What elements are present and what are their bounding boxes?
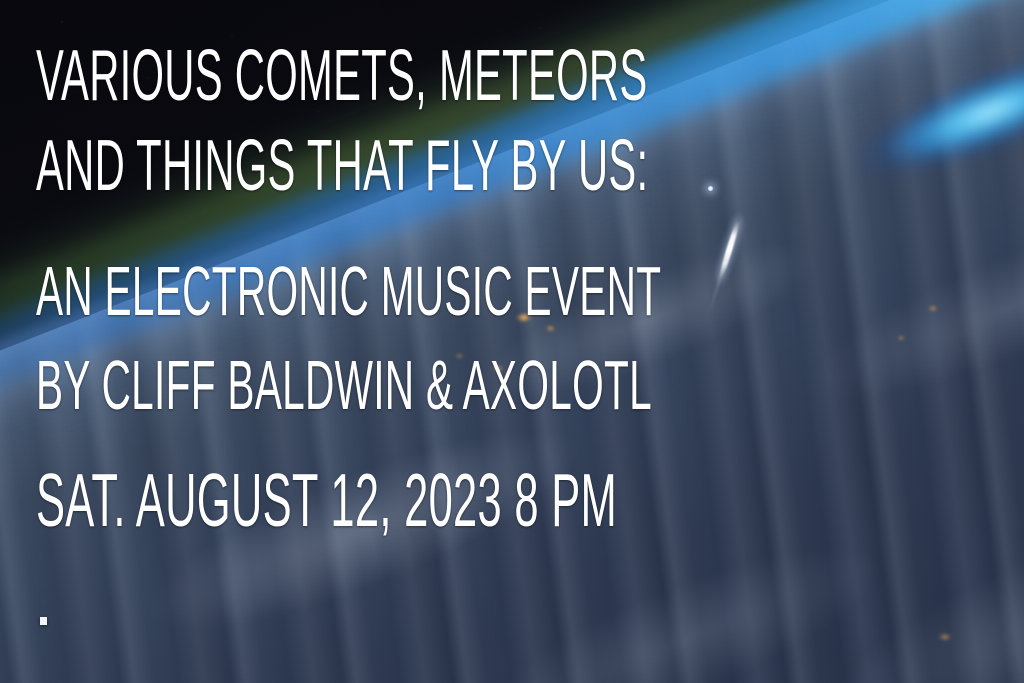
poster-subtitle-line-1: An Electronic Music Event [36, 256, 661, 326]
trailing-period-mark [40, 617, 47, 625]
poster-date-time: Sat. August 12, 2023 8 PM [36, 463, 617, 538]
poster-title-line-2: And Things That Fly By Us: [36, 130, 648, 202]
event-poster: Various Comets, Meteors And Things That … [0, 0, 1024, 683]
poster-text-layer: Various Comets, Meteors And Things That … [0, 0, 1024, 683]
poster-subtitle-line-2: By Cliff Baldwin & Axolotl [36, 350, 652, 420]
poster-title-line-1: Various Comets, Meteors [36, 40, 647, 112]
